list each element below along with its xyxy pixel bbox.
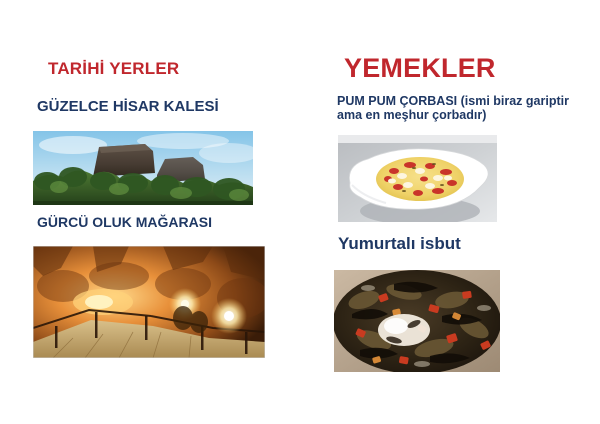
isbut-photo-graphic — [334, 270, 500, 372]
soup-photo-graphic — [338, 135, 497, 222]
section-title-historic-places: TARİHİ YERLER — [48, 59, 179, 79]
cave-photo-graphic — [33, 246, 265, 358]
guzelce-hisar-kalesi-photo — [33, 131, 253, 205]
slide-canvas: TARİHİ YERLER GÜZELCE HİSAR KALESİ — [0, 0, 600, 424]
section-title-foods: YEMEKLER — [344, 53, 496, 84]
caption-pum-pum-corbasi: PUM PUM ÇORBASI (ismi biraz gariptir ama… — [337, 94, 587, 122]
pum-pum-corbasi-photo — [338, 135, 497, 222]
caption-yumurtali-isbut: Yumurtalı isbut — [338, 234, 461, 254]
castle-photo-graphic — [33, 131, 253, 205]
yumurtali-isbut-photo — [334, 270, 500, 372]
caption-guzelce-hisar-kalesi: GÜZELCE HİSAR KALESİ — [37, 98, 219, 115]
gurcu-oluk-magarasi-photo — [33, 246, 265, 358]
caption-gurcu-oluk-magarasi: GÜRCÜ OLUK MAĞARASI — [37, 214, 212, 230]
